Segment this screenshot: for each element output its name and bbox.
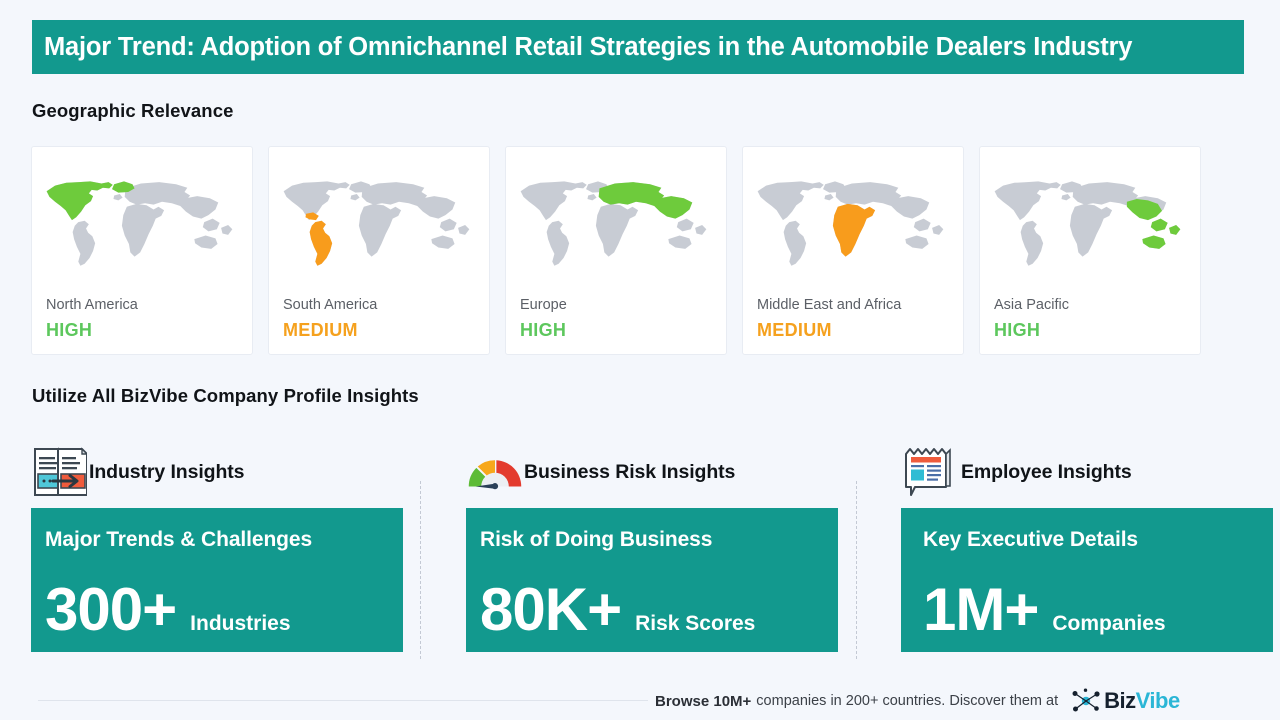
relevance-badge: MEDIUM: [283, 320, 358, 341]
relevance-badge: MEDIUM: [757, 320, 832, 341]
region-card-asia-pacific[interactable]: Asia PacificHIGH: [979, 146, 1201, 355]
logo-text-biz: Biz: [1104, 688, 1136, 714]
region-name: Asia Pacific: [994, 297, 1069, 313]
insight-title: Industry Insights: [89, 461, 244, 484]
network-dots-icon: [1071, 688, 1101, 714]
stat-number: 300+: [45, 581, 176, 638]
stat-row: 1M+Companies: [923, 581, 1166, 638]
world-map-icon: [515, 161, 719, 289]
footer-browse-text: companies in 200+ countries. Discover th…: [756, 693, 1058, 709]
geographic-relevance-heading: Geographic Relevance: [32, 100, 233, 122]
region-name: North America: [46, 297, 138, 313]
insight-header: Employee Insights: [901, 443, 1273, 501]
logo-text-vibe: Vibe: [1136, 688, 1180, 714]
insight-column-0: Industry InsightsMajor Trends & Challeng…: [31, 443, 403, 652]
world-map-icon: [752, 161, 956, 289]
documents-transfer-icon: [31, 446, 89, 498]
region-name: Europe: [520, 297, 567, 313]
newspaper-bubble-icon: [901, 446, 959, 498]
insight-column-2: Employee InsightsKey Executive Details1M…: [901, 443, 1273, 652]
stat-caption: Risk of Doing Business: [480, 528, 838, 552]
insight-title: Employee Insights: [959, 461, 1132, 484]
stat-row: 80K+Risk Scores: [480, 581, 755, 638]
stat-caption: Major Trends & Challenges: [45, 528, 403, 552]
risk-gauge-icon: [466, 447, 524, 497]
region-card-list: North AmericaHIGHSouth AmericaMEDIUMEuro…: [31, 146, 1201, 355]
relevance-badge: HIGH: [46, 320, 92, 341]
region-name: South America: [283, 297, 377, 313]
region-card-middle-east-africa[interactable]: Middle East and AfricaMEDIUM: [742, 146, 964, 355]
relevance-badge: HIGH: [520, 320, 566, 341]
insights-section: Industry InsightsMajor Trends & Challeng…: [0, 443, 1280, 661]
world-map-icon: [41, 161, 245, 289]
world-map-icon: [989, 161, 1193, 289]
stat-unit: Risk Scores: [635, 612, 755, 636]
insight-column-1: Business Risk InsightsRisk of Doing Busi…: [466, 443, 838, 652]
insight-title: Business Risk Insights: [524, 461, 735, 484]
region-name: Middle East and Africa: [757, 297, 901, 313]
stat-row: 300+Industries: [45, 581, 291, 638]
region-card-europe[interactable]: EuropeHIGH: [505, 146, 727, 355]
infographic-page: Major Trend: Adoption of Omnichannel Ret…: [0, 0, 1280, 720]
insight-divider: [856, 481, 857, 659]
page-title: Major Trend: Adoption of Omnichannel Ret…: [32, 33, 1132, 62]
insight-header: Industry Insights: [31, 443, 403, 501]
title-banner: Major Trend: Adoption of Omnichannel Ret…: [32, 20, 1244, 74]
relevance-badge: HIGH: [994, 320, 1040, 341]
footer: Browse 10M+ companies in 200+ countries.…: [655, 688, 1180, 714]
company-profile-insights-heading: Utilize All BizVibe Company Profile Insi…: [32, 385, 419, 407]
footer-divider: [38, 700, 648, 701]
stat-unit: Companies: [1052, 612, 1165, 636]
stat-caption: Key Executive Details: [923, 528, 1273, 552]
footer-browse-strong: Browse 10M+: [655, 693, 751, 710]
stat-number: 80K+: [480, 581, 621, 638]
insight-stat-box[interactable]: Risk of Doing Business80K+Risk Scores: [466, 508, 838, 652]
insight-header: Business Risk Insights: [466, 443, 838, 501]
world-map-icon: [278, 161, 482, 289]
insight-stat-box[interactable]: Key Executive Details1M+Companies: [901, 508, 1273, 652]
stat-unit: Industries: [190, 612, 290, 636]
insight-divider: [420, 481, 421, 659]
stat-number: 1M+: [923, 581, 1038, 638]
region-card-north-america[interactable]: North AmericaHIGH: [31, 146, 253, 355]
insight-stat-box[interactable]: Major Trends & Challenges300+Industries: [31, 508, 403, 652]
region-card-south-america[interactable]: South AmericaMEDIUM: [268, 146, 490, 355]
bizvibe-logo[interactable]: Biz Vibe: [1071, 688, 1180, 714]
